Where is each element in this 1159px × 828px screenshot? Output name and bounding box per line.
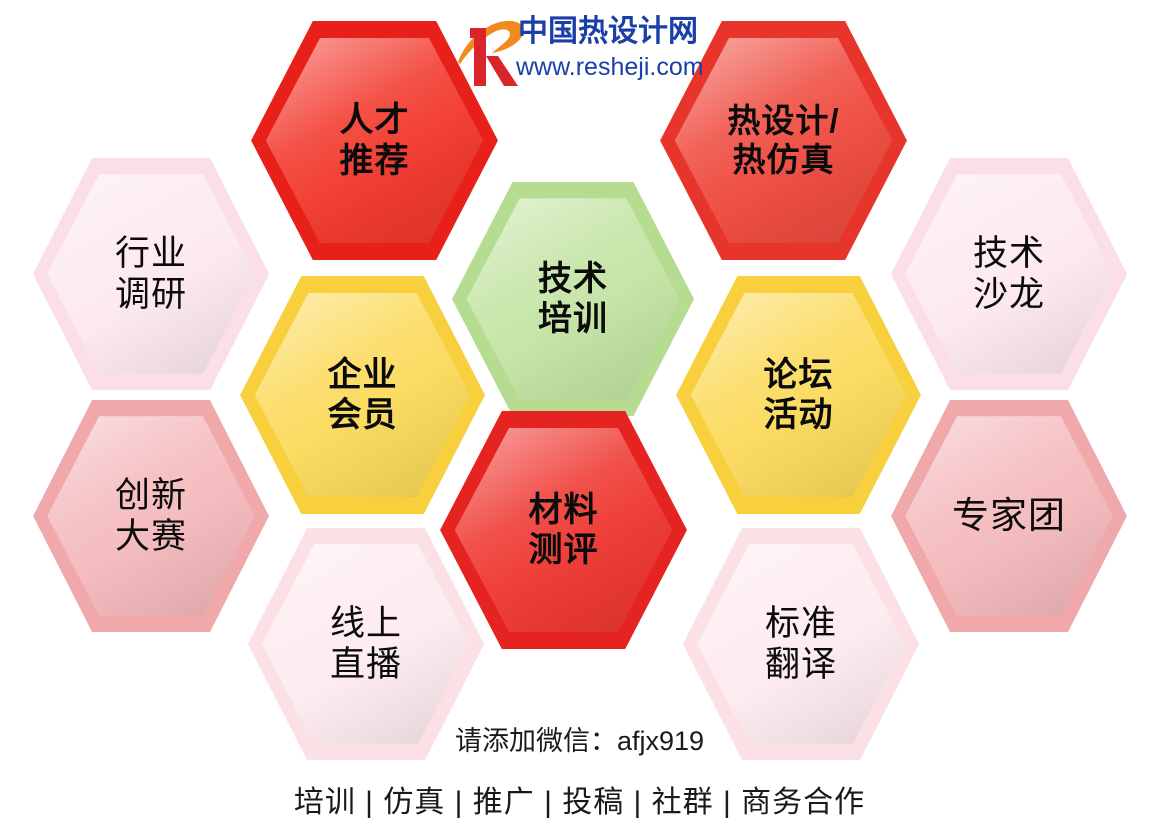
- hex-label: 标准 翻译: [765, 603, 837, 686]
- hex-material-evaluation[interactable]: 材料 测评: [440, 411, 687, 649]
- logo-website-url: www.resheji.com: [516, 52, 704, 82]
- logo-brand-name: 中国热设计网: [518, 15, 698, 49]
- hex-label: 线上 直播: [330, 603, 402, 686]
- hex-label: 专家团: [952, 494, 1066, 538]
- hex-tech-salon[interactable]: 技术 沙龙: [891, 158, 1127, 390]
- hex-label: 技术 培训: [538, 259, 608, 339]
- infographic-canvas: 人才 推荐热设计/ 热仿真行业 调研技术 沙龙技术 培训企业 会员论坛 活动创新…: [0, 0, 1159, 828]
- hex-label: 技术 沙龙: [973, 233, 1045, 316]
- hex-expert-team[interactable]: 专家团: [891, 400, 1127, 632]
- hex-tech-training[interactable]: 技术 培训: [452, 182, 694, 416]
- hex-industry-research[interactable]: 行业 调研: [33, 158, 269, 390]
- hex-label: 企业 会员: [328, 355, 398, 435]
- hex-label: 行业 调研: [115, 233, 187, 316]
- site-logo: 中国热设计网 www.resheji.com: [452, 14, 682, 92]
- hex-innovation-competition[interactable]: 创新 大赛: [33, 400, 269, 632]
- services-list-line: 培训 | 仿真 | 推广 | 投稿 | 社群 | 商务合作: [0, 777, 1159, 821]
- hex-forum-activity[interactable]: 论坛 活动: [676, 276, 921, 514]
- wechat-contact-line: 请添加微信：afjx919: [0, 719, 1159, 758]
- hex-label: 论坛 活动: [764, 355, 834, 435]
- hex-label: 材料 测评: [529, 490, 599, 570]
- hex-enterprise-membership[interactable]: 企业 会员: [240, 276, 485, 514]
- hex-label: 热设计/ 热仿真: [727, 102, 839, 180]
- hex-label: 创新 大赛: [115, 475, 187, 558]
- hex-label: 人才 推荐: [340, 100, 410, 180]
